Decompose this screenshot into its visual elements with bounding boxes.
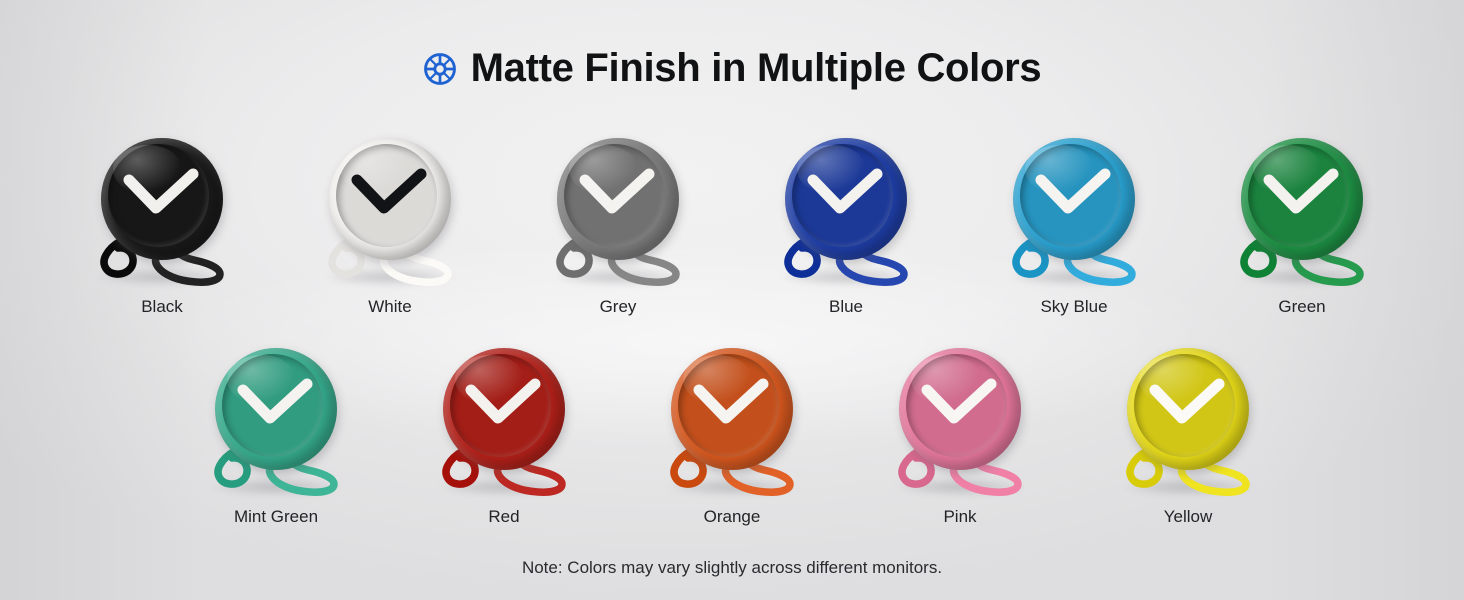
clock-disc <box>1013 138 1135 260</box>
clock-image-pink <box>884 348 1036 498</box>
clock-disc <box>215 348 337 470</box>
color-label-blue: Blue <box>829 297 863 317</box>
clock-disc <box>671 348 793 470</box>
clock-image-white <box>314 138 466 288</box>
color-row-2: Mint Green Red <box>0 348 1464 527</box>
color-swatch-grey[interactable]: Grey <box>542 138 694 317</box>
color-label-sky-blue: Sky Blue <box>1040 297 1107 317</box>
clock-hands <box>1013 138 1135 260</box>
clock-hands <box>215 348 337 470</box>
clock-image-sky-blue <box>998 138 1150 288</box>
clock-image-green <box>1226 138 1378 288</box>
clock-disc <box>443 348 565 470</box>
color-swatch-yellow[interactable]: Yellow <box>1112 348 1264 527</box>
color-label-mint-green: Mint Green <box>234 507 318 527</box>
clock-image-grey <box>542 138 694 288</box>
clock-disc <box>1241 138 1363 260</box>
clock-hands <box>1241 138 1363 260</box>
disclaimer-note: Note: Colors may vary slightly across di… <box>0 558 1464 578</box>
clock-image-red <box>428 348 580 498</box>
clock-disc <box>785 138 907 260</box>
page-title: Matte Finish in Multiple Colors <box>0 46 1464 91</box>
color-label-red: Red <box>488 507 519 527</box>
clock-disc <box>329 138 451 260</box>
clock-hands <box>671 348 793 470</box>
color-swatch-black[interactable]: Black <box>86 138 238 317</box>
product-color-showcase: Matte Finish in Multiple Colors <box>0 0 1464 600</box>
color-swatch-sky-blue[interactable]: Sky Blue <box>998 138 1150 317</box>
color-label-grey: Grey <box>600 297 637 317</box>
color-label-pink: Pink <box>943 507 976 527</box>
color-swatch-mint-green[interactable]: Mint Green <box>200 348 352 527</box>
color-label-white: White <box>368 297 411 317</box>
clock-hands <box>1127 348 1249 470</box>
clock-image-mint-green <box>200 348 352 498</box>
color-swatch-red[interactable]: Red <box>428 348 580 527</box>
color-wheel-icon <box>423 52 457 86</box>
clock-hands <box>443 348 565 470</box>
color-label-green: Green <box>1278 297 1325 317</box>
page-title-text: Matte Finish in Multiple Colors <box>471 46 1042 91</box>
clock-disc <box>101 138 223 260</box>
color-swatch-green[interactable]: Green <box>1226 138 1378 317</box>
clock-disc <box>1127 348 1249 470</box>
color-swatch-white[interactable]: White <box>314 138 466 317</box>
clock-image-blue <box>770 138 922 288</box>
clock-image-black <box>86 138 238 288</box>
clock-hands <box>101 138 223 260</box>
color-swatch-pink[interactable]: Pink <box>884 348 1036 527</box>
clock-hands <box>557 138 679 260</box>
clock-hands <box>899 348 1021 470</box>
clock-disc <box>899 348 1021 470</box>
color-label-yellow: Yellow <box>1164 507 1213 527</box>
color-label-orange: Orange <box>704 507 761 527</box>
clock-hands <box>785 138 907 260</box>
clock-image-yellow <box>1112 348 1264 498</box>
color-swatch-orange[interactable]: Orange <box>656 348 808 527</box>
clock-image-orange <box>656 348 808 498</box>
color-swatch-blue[interactable]: Blue <box>770 138 922 317</box>
color-row-1: Black White <box>0 138 1464 317</box>
clock-disc <box>557 138 679 260</box>
clock-hands <box>329 138 451 260</box>
color-label-black: Black <box>141 297 183 317</box>
